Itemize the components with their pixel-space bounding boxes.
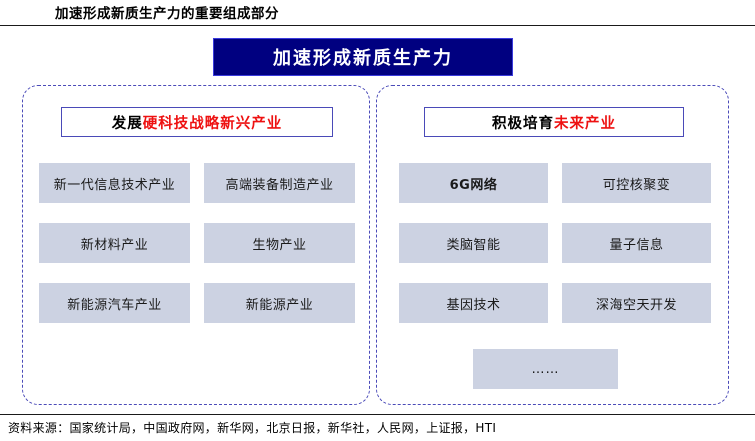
list-item[interactable]: 类脑智能 <box>399 223 548 263</box>
main-banner-label: 加速形成新质生产力 <box>273 44 453 70</box>
list-item[interactable]: 新能源汽车产业 <box>39 283 190 323</box>
header-highlight: 硬科技战略新兴产业 <box>143 116 283 132</box>
panel-future-industry: 积极培育未来产业 6G网络 可控核聚变 类脑智能 量子信息 基因技术 深海空天开… <box>376 85 729 405</box>
list-item[interactable]: 新能源产业 <box>204 283 355 323</box>
panel-hard-tech-items: 新一代信息技术产业 高端装备制造产业 新材料产业 生物产业 新能源汽车产业 新能… <box>39 163 355 323</box>
main-banner: 加速形成新质生产力 <box>213 38 513 76</box>
list-item[interactable]: 深海空天开发 <box>562 283 711 323</box>
panel-future-industry-items: 6G网络 可控核聚变 类脑智能 量子信息 基因技术 深海空天开发 <box>399 163 711 323</box>
list-item[interactable]: 6G网络 <box>399 163 548 203</box>
panel-hard-tech: 发展硬科技战略新兴产业 新一代信息技术产业 高端装备制造产业 新材料产业 生物产… <box>22 85 370 405</box>
list-item[interactable]: 生物产业 <box>204 223 355 263</box>
panel-hard-tech-header: 发展硬科技战略新兴产业 <box>61 107 333 137</box>
source-note: 资料来源：国家统计局，中国政府网，新华网，北京日报，新华社，人民网，上证报，HT… <box>8 419 496 436</box>
list-item[interactable]: 新一代信息技术产业 <box>39 163 190 203</box>
list-item[interactable]: 基因技术 <box>399 283 548 323</box>
list-item[interactable]: 新材料产业 <box>39 223 190 263</box>
header-highlight: 未来产业 <box>554 116 616 132</box>
title-divider <box>0 25 755 26</box>
header-prefix: 积极培育 <box>492 116 554 132</box>
footer-divider <box>0 414 755 415</box>
panel-future-industry-header: 积极培育未来产业 <box>424 107 684 137</box>
panel-hard-tech-header-label: 发展硬科技战略新兴产业 <box>112 112 283 133</box>
panel-future-industry-header-label: 积极培育未来产业 <box>492 112 616 133</box>
header-prefix: 发展 <box>112 116 143 132</box>
list-item[interactable]: 高端装备制造产业 <box>204 163 355 203</box>
list-item-ellipsis[interactable]: …… <box>473 349 618 389</box>
page-title: 加速形成新质生产力的重要组成部分 <box>55 2 279 22</box>
list-item[interactable]: 可控核聚变 <box>562 163 711 203</box>
list-item[interactable]: 量子信息 <box>562 223 711 263</box>
